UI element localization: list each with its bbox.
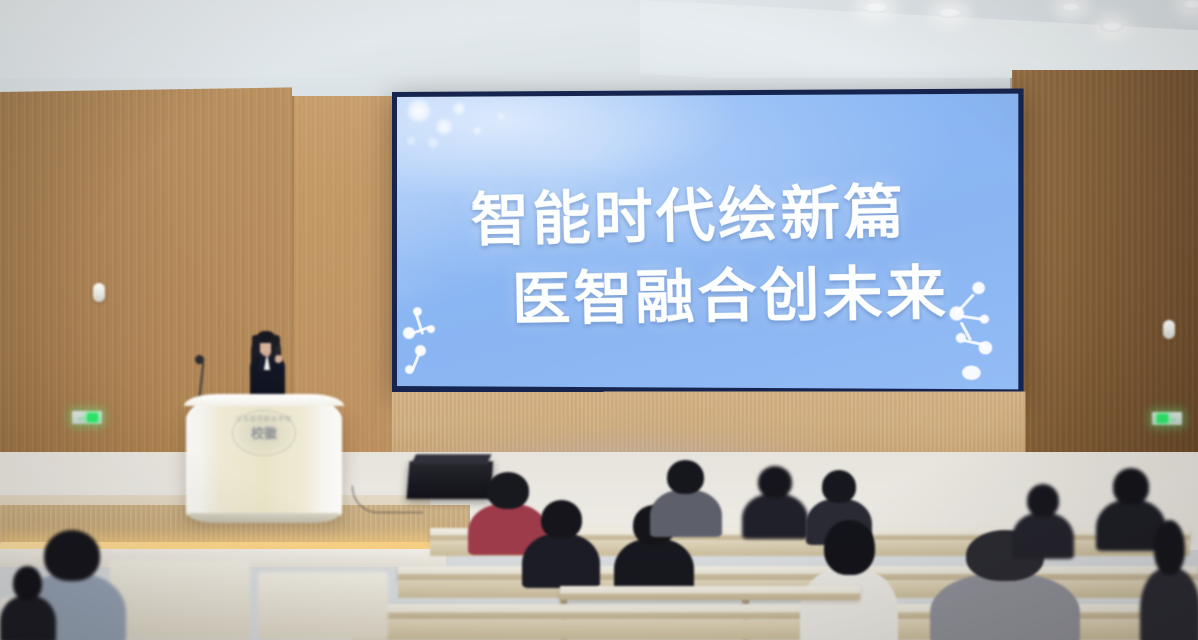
- seat-back: [258, 572, 388, 640]
- person-head: [1154, 520, 1185, 575]
- wall-sensor-right: [1163, 320, 1175, 339]
- person-torso: [800, 568, 898, 640]
- person-head: [822, 470, 856, 503]
- ceiling-downlight: [1060, 3, 1082, 12]
- person-torso: [0, 596, 56, 640]
- running-man-icon-right: [1157, 414, 1168, 423]
- exit-sign-left: ←: [72, 411, 102, 424]
- person-torso: [1012, 513, 1074, 559]
- student-checked-sweater: [650, 460, 722, 534]
- stage-monitor-top: [411, 454, 491, 464]
- emblem-center-mark: 校徽: [251, 427, 277, 440]
- person-torso: [930, 574, 1080, 640]
- slide-headline-1: 智能时代绘新篇: [397, 161, 1018, 258]
- ceiling-downlight: [862, 2, 890, 13]
- person-head: [1113, 468, 1149, 505]
- bokeh-highlights: [397, 94, 1018, 97]
- student-back-dark-right: [742, 466, 808, 536]
- person-torso: [522, 534, 600, 588]
- bokeh-dot: [452, 102, 466, 116]
- desk-row-1: [560, 586, 860, 600]
- university-emblem: 江苏医药职业学院 校徽: [232, 410, 296, 456]
- podium-base: [188, 513, 340, 523]
- exit-sign-right: →: [1152, 412, 1182, 425]
- exit-arrow-left-icon: ←: [77, 413, 86, 422]
- person-head: [667, 460, 704, 494]
- presenter-hand: [275, 355, 282, 363]
- bokeh-dot: [406, 136, 416, 146]
- slide-surface: 智能时代绘新篇 医智融合创未来: [397, 94, 1018, 390]
- podium: 江苏医药职业学院 校徽: [186, 398, 342, 516]
- molecule-bond: [964, 339, 985, 346]
- lecture-hall-scene: ← →: [0, 0, 1198, 640]
- running-man-icon-left: [87, 413, 98, 422]
- person-torso: [650, 490, 722, 537]
- person-head: [824, 520, 875, 575]
- molecule-node: [962, 366, 981, 380]
- student-mid-right-long: [1012, 484, 1074, 556]
- person-head: [1027, 484, 1059, 517]
- molecule-bond: [411, 351, 421, 371]
- wall-sensor-left: [93, 283, 105, 302]
- bokeh-dot: [497, 112, 505, 120]
- person-torso: [742, 494, 808, 539]
- ceiling-downlight: [1182, 0, 1198, 9]
- student-left-edge-dark: [0, 566, 56, 640]
- emblem-arc-text: 江苏医药职业学院: [236, 414, 292, 423]
- bokeh-dot: [472, 126, 482, 136]
- person-torso: [1140, 568, 1198, 640]
- ceiling-downlight: [1100, 22, 1124, 32]
- bokeh-dot: [427, 137, 439, 149]
- person-head: [541, 500, 582, 539]
- student-white-pattern: [800, 520, 898, 640]
- bokeh-dot: [435, 118, 453, 136]
- bokeh-dot: [406, 98, 432, 124]
- ceiling-downlight: [937, 8, 963, 18]
- projection-screen[interactable]: 智能时代绘新篇 医智融合创未来: [392, 88, 1024, 395]
- person-head: [13, 566, 42, 600]
- exit-arrow-right-icon: →: [1169, 414, 1178, 423]
- podium-top-surface: [184, 394, 344, 406]
- seat-back: [110, 560, 250, 640]
- student-right-edge: [1140, 520, 1198, 640]
- student-dark-center-left: [522, 500, 600, 584]
- slide-headline-2: 医智融合创未来: [397, 244, 1018, 339]
- person-head: [758, 466, 792, 498]
